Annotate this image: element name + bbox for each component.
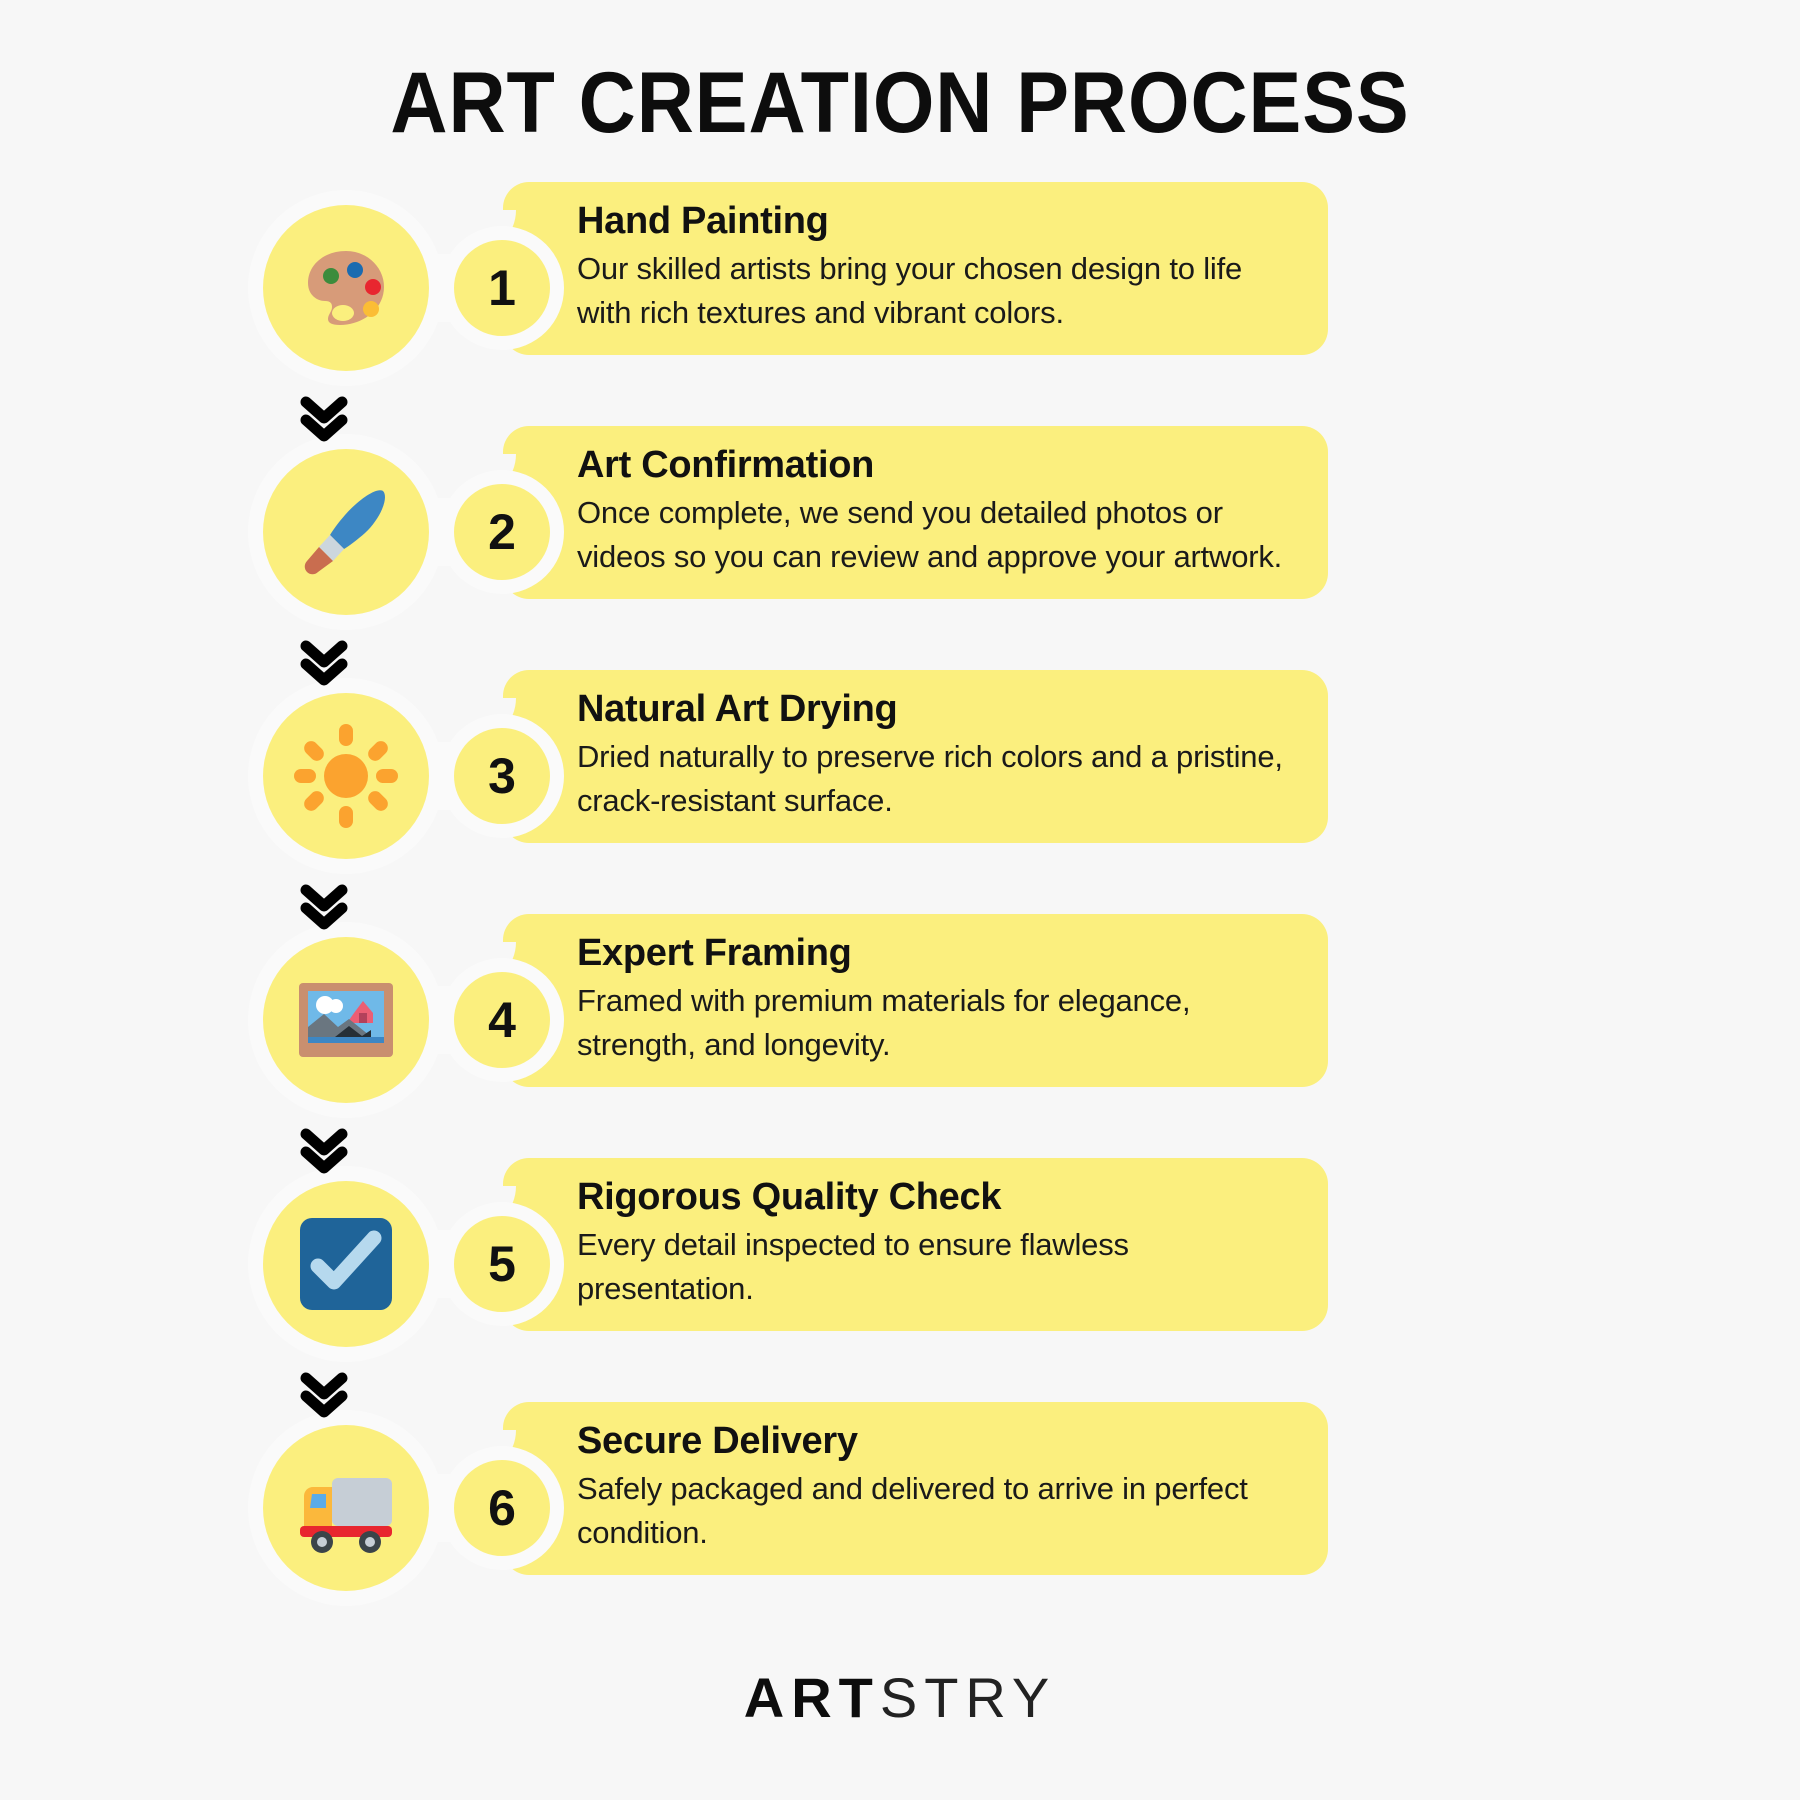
step-description: Dried naturally to preserve rich colors … <box>577 735 1294 823</box>
process-step[interactable]: Hand Painting Our skilled artists bring … <box>0 182 1800 394</box>
step-card[interactable]: Expert Framing Framed with premium mater… <box>503 914 1328 1087</box>
step-number: 3 <box>454 728 550 824</box>
step-title: Hand Painting <box>577 200 1294 243</box>
step-card[interactable]: Art Confirmation Once complete, we send … <box>503 426 1328 599</box>
brand-footer: ARTSTRY <box>0 1665 1800 1730</box>
process-step[interactable]: Secure Delivery Safely packaged and deli… <box>0 1402 1800 1614</box>
double-chevron-down-icon <box>296 392 352 446</box>
process-step[interactable]: Art Confirmation Once complete, we send … <box>0 426 1800 638</box>
process-step[interactable]: Rigorous Quality Check Every detail insp… <box>0 1158 1800 1370</box>
step-icon-container <box>248 678 444 874</box>
process-step[interactable]: Natural Art Drying Dried naturally to pr… <box>0 670 1800 882</box>
artist-palette-icon <box>291 233 401 343</box>
step-number: 1 <box>454 240 550 336</box>
step-number-badge: 5 <box>440 1202 564 1326</box>
step-number: 4 <box>454 972 550 1068</box>
step-card[interactable]: Hand Painting Our skilled artists bring … <box>503 182 1328 355</box>
framed-picture-icon <box>291 965 401 1075</box>
step-description: Every detail inspected to ensure flawles… <box>577 1223 1294 1311</box>
delivery-truck-icon <box>290 1452 402 1564</box>
step-card[interactable]: Natural Art Drying Dried naturally to pr… <box>503 670 1328 843</box>
step-description: Safely packaged and delivered to arrive … <box>577 1467 1294 1555</box>
step-number-badge: 6 <box>440 1446 564 1570</box>
step-title: Secure Delivery <box>577 1420 1294 1463</box>
step-title: Rigorous Quality Check <box>577 1176 1294 1219</box>
step-icon-container <box>248 190 444 386</box>
step-title: Natural Art Drying <box>577 688 1294 731</box>
brand-name-bold: ART <box>744 1666 880 1729</box>
step-number-badge: 4 <box>440 958 564 1082</box>
step-icon-container <box>248 922 444 1118</box>
step-title: Art Confirmation <box>577 444 1294 487</box>
step-number-badge: 3 <box>440 714 564 838</box>
step-card[interactable]: Secure Delivery Safely packaged and deli… <box>503 1402 1328 1575</box>
brand-name-light: STRY <box>880 1666 1056 1729</box>
double-chevron-down-icon <box>296 880 352 934</box>
double-chevron-down-icon <box>296 636 352 690</box>
step-icon-container <box>248 1166 444 1362</box>
process-step-list: Hand Painting Our skilled artists bring … <box>0 182 1800 1614</box>
step-title: Expert Framing <box>577 932 1294 975</box>
double-chevron-down-icon <box>296 1368 352 1422</box>
step-description: Once complete, we send you detailed phot… <box>577 491 1294 579</box>
page-title: ART CREATION PROCESS <box>72 0 1728 148</box>
step-description: Our skilled artists bring your chosen de… <box>577 247 1294 335</box>
step-card[interactable]: Rigorous Quality Check Every detail insp… <box>503 1158 1328 1331</box>
paintbrush-icon <box>291 477 401 587</box>
sun-icon <box>290 720 402 832</box>
check-mark-box-icon <box>294 1212 398 1316</box>
step-number: 2 <box>454 484 550 580</box>
step-number-badge: 2 <box>440 470 564 594</box>
step-number: 5 <box>454 1216 550 1312</box>
step-icon-container <box>248 1410 444 1606</box>
double-chevron-down-icon <box>296 1124 352 1178</box>
step-description: Framed with premium materials for elegan… <box>577 979 1294 1067</box>
step-number: 6 <box>454 1460 550 1556</box>
step-icon-container <box>248 434 444 630</box>
step-number-badge: 1 <box>440 226 564 350</box>
process-step[interactable]: Expert Framing Framed with premium mater… <box>0 914 1800 1126</box>
